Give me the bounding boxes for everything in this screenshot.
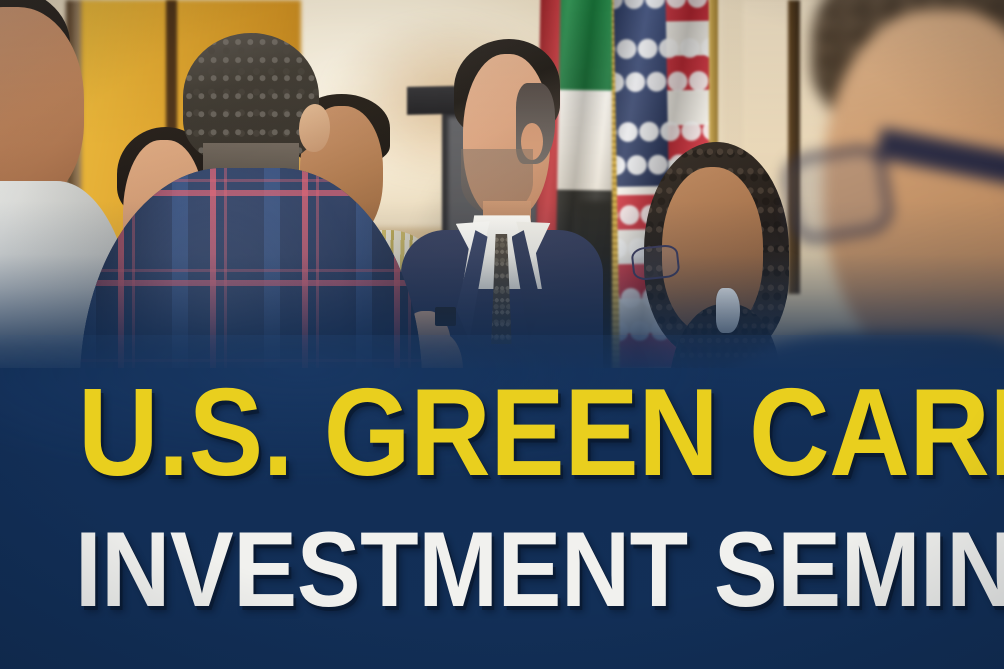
blurred-foreground-attendee: [793, 0, 1004, 415]
speaker-microphone: [435, 307, 457, 325]
poster-canvas: U.S. GREEN CARD INVESTMENT SEMINAR: [0, 0, 1004, 669]
woman-hair-clip: [716, 288, 739, 334]
poster-subheadline: INVESTMENT SEMINAR: [75, 516, 1004, 623]
plaid-shirt-man-ear: [299, 104, 330, 152]
woman-glasses: [630, 244, 680, 282]
poster-headline: U.S. GREEN CARD: [78, 371, 1004, 495]
grey-shirt-man-head: [0, 7, 84, 208]
